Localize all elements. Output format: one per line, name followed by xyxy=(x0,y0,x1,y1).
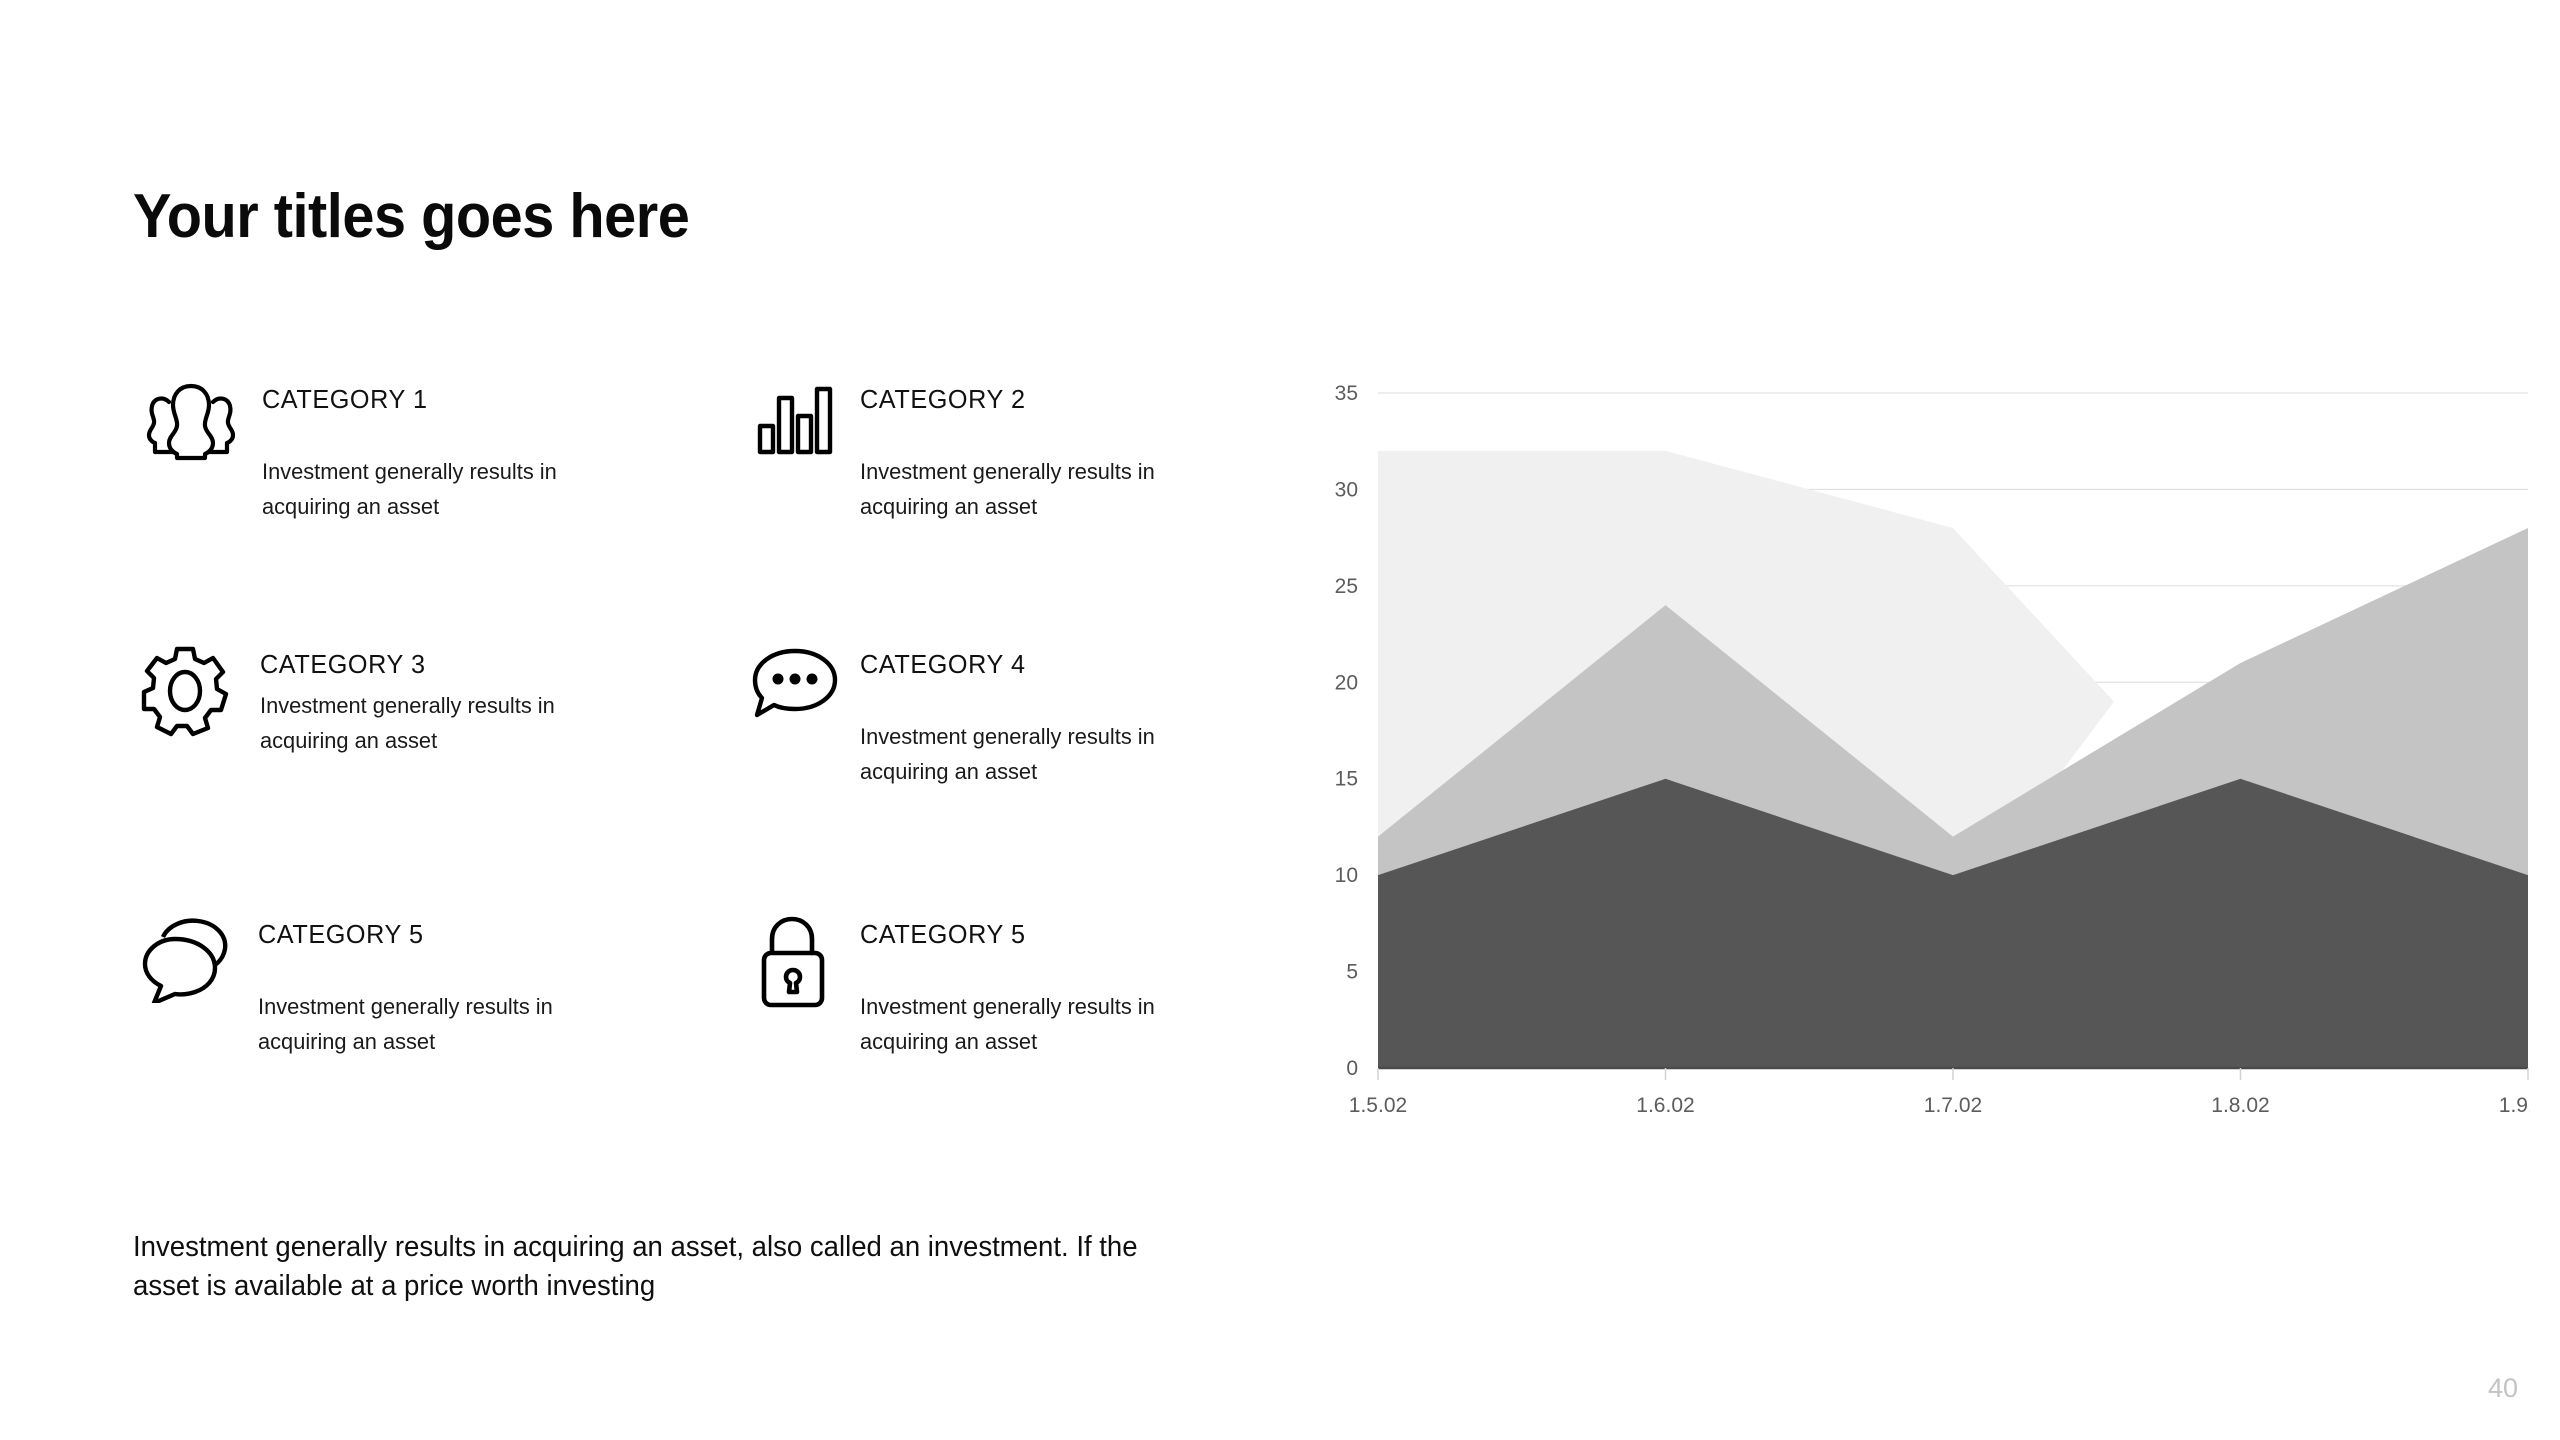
gear-icon xyxy=(120,643,250,755)
feature-title: CATEGORY 1 xyxy=(262,384,631,415)
feature-item-category-5-left[interactable]: CATEGORY 5 Investment generally results … xyxy=(120,913,690,1173)
feature-text-block: CATEGORY 5 Investment generally results … xyxy=(258,913,638,1060)
feature-item-category-3[interactable]: CATEGORY 3 Investment generally results … xyxy=(120,643,690,913)
y-axis-tick-label: 30 xyxy=(1335,478,1358,501)
x-axis-tick-label: 1.6.02 xyxy=(1636,1094,1694,1117)
y-axis-tick-label: 5 xyxy=(1346,961,1358,984)
feature-title: CATEGORY 4 xyxy=(860,649,1229,680)
feature-title: CATEGORY 5 xyxy=(258,919,627,950)
y-axis-tick-label: 15 xyxy=(1335,768,1358,791)
feature-title: CATEGORY 5 xyxy=(860,919,1229,950)
feature-text-block: CATEGORY 2 Investment generally results … xyxy=(860,378,1240,525)
feature-title: CATEGORY 2 xyxy=(860,384,1229,415)
bar-chart-icon xyxy=(720,378,860,490)
feature-text-block: CATEGORY 4 Investment generally results … xyxy=(860,643,1240,790)
feature-body: Investment generally results in acquirin… xyxy=(860,990,1229,1060)
unlock-icon xyxy=(720,913,860,1025)
people-group-icon xyxy=(120,378,256,490)
feature-text-block: CATEGORY 3 Investment generally results … xyxy=(260,643,640,759)
feature-body: Investment generally results in acquirin… xyxy=(258,990,627,1060)
speech-bubble-dots-icon xyxy=(720,643,860,755)
footer-paragraph: Investment generally results in acquirin… xyxy=(133,1228,1159,1305)
chart-canvas: 051015202530351.5.021.6.021.7.021.8.021.… xyxy=(1300,385,2530,1145)
feature-text-block: CATEGORY 1 Investment generally results … xyxy=(262,378,642,525)
y-axis-tick-label: 25 xyxy=(1335,575,1358,598)
y-axis-tick-label: 10 xyxy=(1335,864,1358,887)
feature-item-category-2[interactable]: CATEGORY 2 Investment generally results … xyxy=(720,378,1290,643)
x-axis-tick-label: 1.5.02 xyxy=(1349,1094,1407,1117)
feature-grid: CATEGORY 1 Investment generally results … xyxy=(120,378,1300,1173)
slide: Your titles goes here CATEGORY 1 Investm… xyxy=(0,0,2560,1440)
stacked-area-chart: 051015202530351.5.021.6.021.7.021.8.021.… xyxy=(1300,385,2530,1145)
page-title: Your titles goes here xyxy=(133,184,689,249)
feature-item-category-1[interactable]: CATEGORY 1 Investment generally results … xyxy=(120,378,690,643)
x-axis-tick-label: 1.9.02 xyxy=(2499,1094,2530,1117)
x-axis-tick-label: 1.7.02 xyxy=(1924,1094,1982,1117)
page-number: 40 xyxy=(2488,1373,2518,1404)
feature-body: Investment generally results in acquirin… xyxy=(260,689,629,759)
feature-item-category-4[interactable]: CATEGORY 4 Investment generally results … xyxy=(720,643,1290,913)
x-axis-tick-label: 1.8.02 xyxy=(2211,1094,2269,1117)
chat-bubbles-icon xyxy=(120,913,250,1025)
y-axis-tick-label: 35 xyxy=(1335,385,1358,405)
feature-title: CATEGORY 3 xyxy=(260,649,629,680)
feature-body: Investment generally results in acquirin… xyxy=(860,720,1229,790)
feature-body: Investment generally results in acquirin… xyxy=(262,455,631,525)
feature-body: Investment generally results in acquirin… xyxy=(860,455,1229,525)
y-axis-tick-label: 0 xyxy=(1346,1057,1358,1080)
feature-text-block: CATEGORY 5 Investment generally results … xyxy=(860,913,1240,1060)
y-axis-tick-label: 20 xyxy=(1335,671,1358,694)
feature-item-category-5-right[interactable]: CATEGORY 5 Investment generally results … xyxy=(720,913,1290,1173)
